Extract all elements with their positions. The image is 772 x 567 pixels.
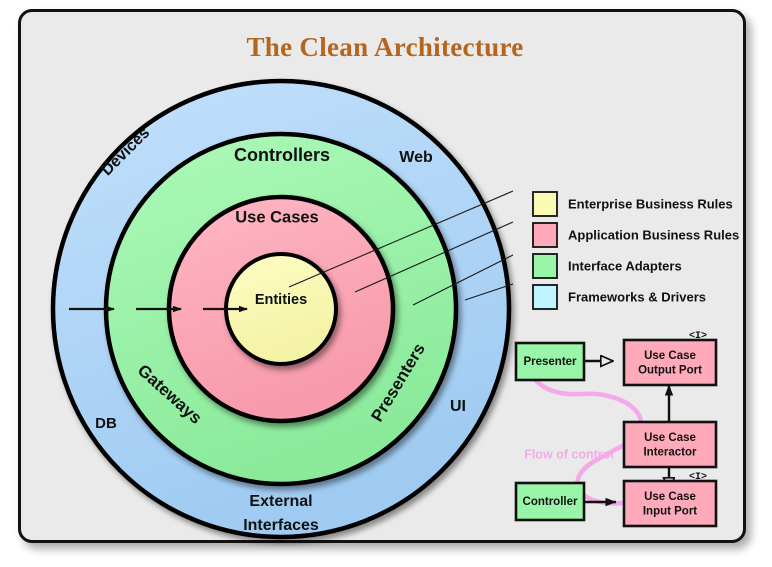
- flow-box-rect-use-case-output-port: [624, 340, 716, 385]
- diagram-card: The Clean Architecture: [18, 9, 746, 543]
- interface-marker-use-case-input-port: <I>: [689, 472, 707, 483]
- flow-box-label-use-case-input-port-1: Input Port: [643, 505, 697, 517]
- flow-box-use-case-input-port[interactable]: Use CaseInput Port<I>: [624, 472, 716, 526]
- flow-diagram: Flow of control PresenterUse CaseOutput …: [21, 12, 749, 546]
- flow-box-label-controller-0: Controller: [523, 496, 578, 508]
- flow-box-presenter[interactable]: Presenter: [516, 343, 584, 380]
- flow-box-controller[interactable]: Controller: [516, 483, 584, 520]
- flow-box-label-use-case-output-port-0: Use Case: [644, 350, 696, 362]
- clean-architecture-diagram: The Clean Architecture: [0, 0, 772, 567]
- flow-box-label-use-case-output-port-1: Output Port: [638, 364, 702, 376]
- flow-box-label-use-case-interactor-1: Interactor: [643, 446, 697, 458]
- flow-of-control-label: Flow of control: [524, 447, 614, 461]
- flow-box-label-presenter-0: Presenter: [523, 356, 577, 368]
- interface-marker-use-case-output-port: <I>: [689, 331, 707, 342]
- flow-box-rect-use-case-input-port: [624, 481, 716, 526]
- flow-box-rect-use-case-interactor: [624, 422, 716, 467]
- flow-box-use-case-output-port[interactable]: Use CaseOutput Port<I>: [624, 331, 716, 385]
- flow-box-label-use-case-input-port-0: Use Case: [644, 491, 696, 503]
- flow-box-use-case-interactor[interactable]: Use CaseInteractor: [624, 422, 716, 467]
- flow-box-label-use-case-interactor-0: Use Case: [644, 432, 696, 444]
